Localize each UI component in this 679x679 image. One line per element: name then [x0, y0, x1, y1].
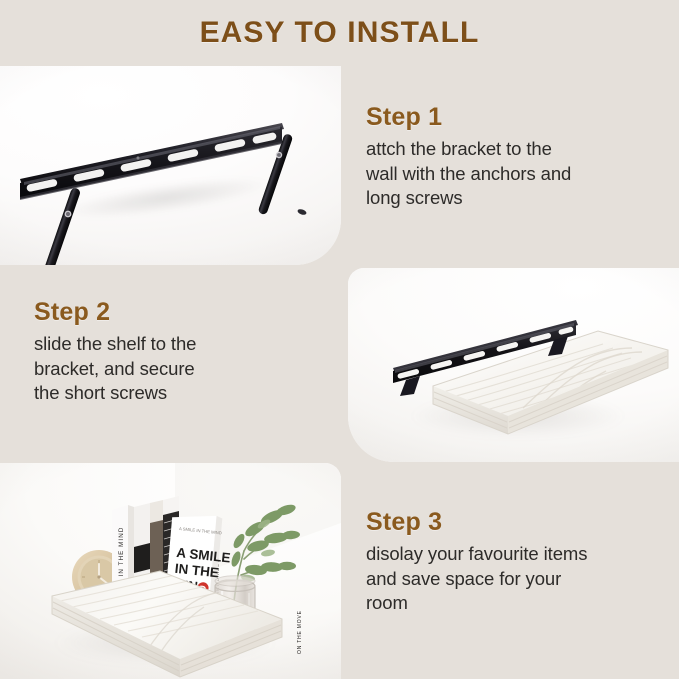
step-1-body: attch the bracket to the wall with the a…	[366, 137, 666, 211]
infographic-page: EASY TO INSTALL	[0, 0, 679, 679]
panel-1-vignette	[0, 66, 341, 265]
header: EASY TO INSTALL	[0, 0, 679, 66]
step-2-heading: Step 2	[34, 299, 334, 325]
step-3-text: Step 3 disolay your favourite items and …	[366, 509, 672, 616]
step-3-body: disolay your favourite items and save sp…	[366, 542, 672, 616]
step-2-body: slide the shelf to the bracket, and secu…	[34, 332, 334, 406]
step-2-text: Step 2 slide the shelf to the bracket, a…	[34, 299, 334, 406]
step-1-heading: Step 1	[366, 104, 666, 130]
panel-2-vignette	[348, 268, 679, 462]
step-1-image-panel	[0, 66, 341, 265]
step-1-text: Step 1 attch the bracket to the wall wit…	[366, 104, 666, 211]
panel-3-vignette	[0, 463, 341, 679]
step-3-image-panel: A SMILE IN THE MIND DESIGN AND ART DIREC…	[0, 463, 341, 679]
step-2-image-panel	[348, 268, 679, 462]
step-3-heading: Step 3	[366, 509, 672, 535]
page-title: EASY TO INSTALL	[200, 16, 480, 50]
